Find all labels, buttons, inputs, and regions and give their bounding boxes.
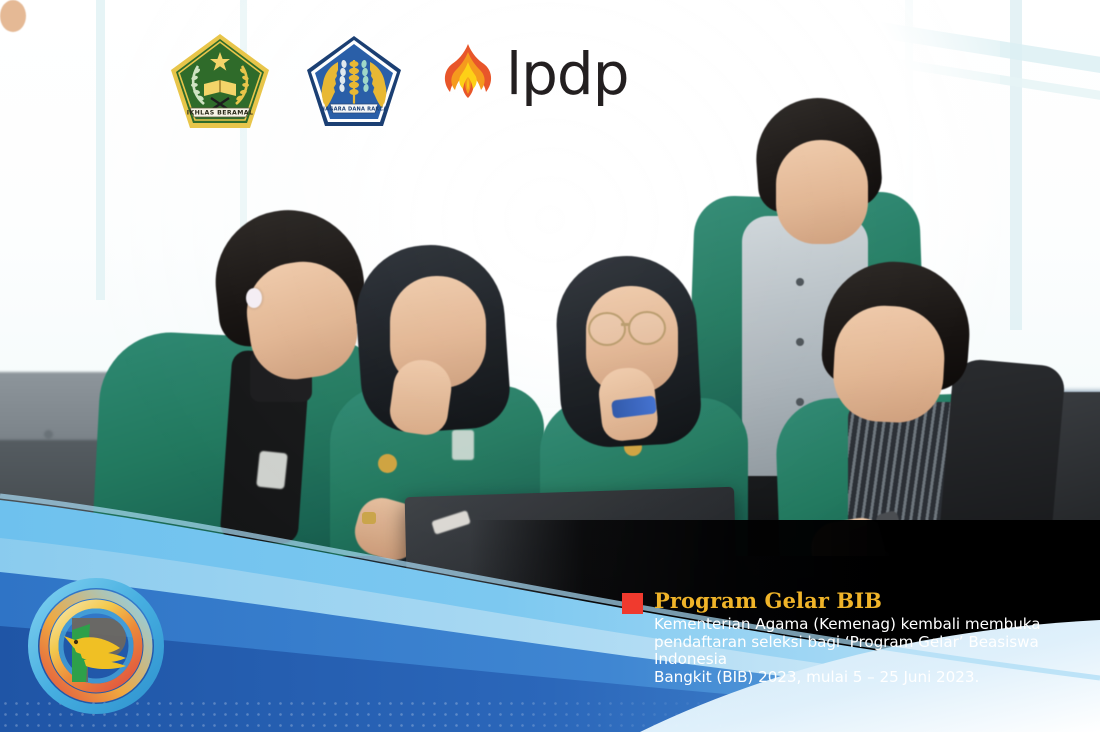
caption-line-2: pendaftaran seleksi bagi ‘Program Gelar’… [654,634,1092,669]
window-mullion-icon [96,0,105,300]
eyeglasses-icon [628,311,666,345]
blazer-button [378,454,397,473]
face [831,303,947,425]
blazer-badge [256,451,288,490]
kemenag-logo: IKHLAS BERAMAL [168,32,272,132]
caption-line-3: Bangkit (BIB) 2023, mulai 5 – 25 Juni 20… [654,669,1092,687]
sofa-button [44,430,53,439]
pendis-circular-logo [28,578,164,714]
caption-heading-row: Program Gelar BIB [622,590,1092,614]
svg-text:IKHLAS BERAMAL: IKHLAS BERAMAL [187,109,254,116]
caption-body: Kementerian Agama (Kemenag) kembali memb… [654,616,1092,686]
caption-block: Program Gelar BIB Kementerian Agama (Kem… [622,590,1092,686]
svg-text:NAGARA DANA RAKCA: NAGARA DANA RAKCA [321,106,388,112]
shirt-button [796,398,804,406]
eyeglasses-icon [588,312,626,346]
shirt-button [796,338,804,346]
kemenkeu-logo: NAGARA DANA RAKCA [304,34,404,130]
shirt-button [796,278,804,286]
poster-root: IKHLAS BERAMAL [0,0,1100,732]
lpdp-wordmark: lpdp [506,45,629,103]
lpdp-flame-icon [440,42,496,105]
caption-title: Program Gelar BIB [654,590,882,612]
caption-line-1: Kementerian Agama (Kemenag) kembali memb… [654,616,1092,634]
ear [0,0,26,32]
face [776,140,868,244]
red-square-accent-icon [622,593,643,614]
person-left [0,0,26,32]
eyeglasses-bridge [621,323,630,326]
blazer-badge [452,430,474,460]
lpdp-logo: lpdp [440,42,629,105]
earbud-icon [246,288,262,308]
